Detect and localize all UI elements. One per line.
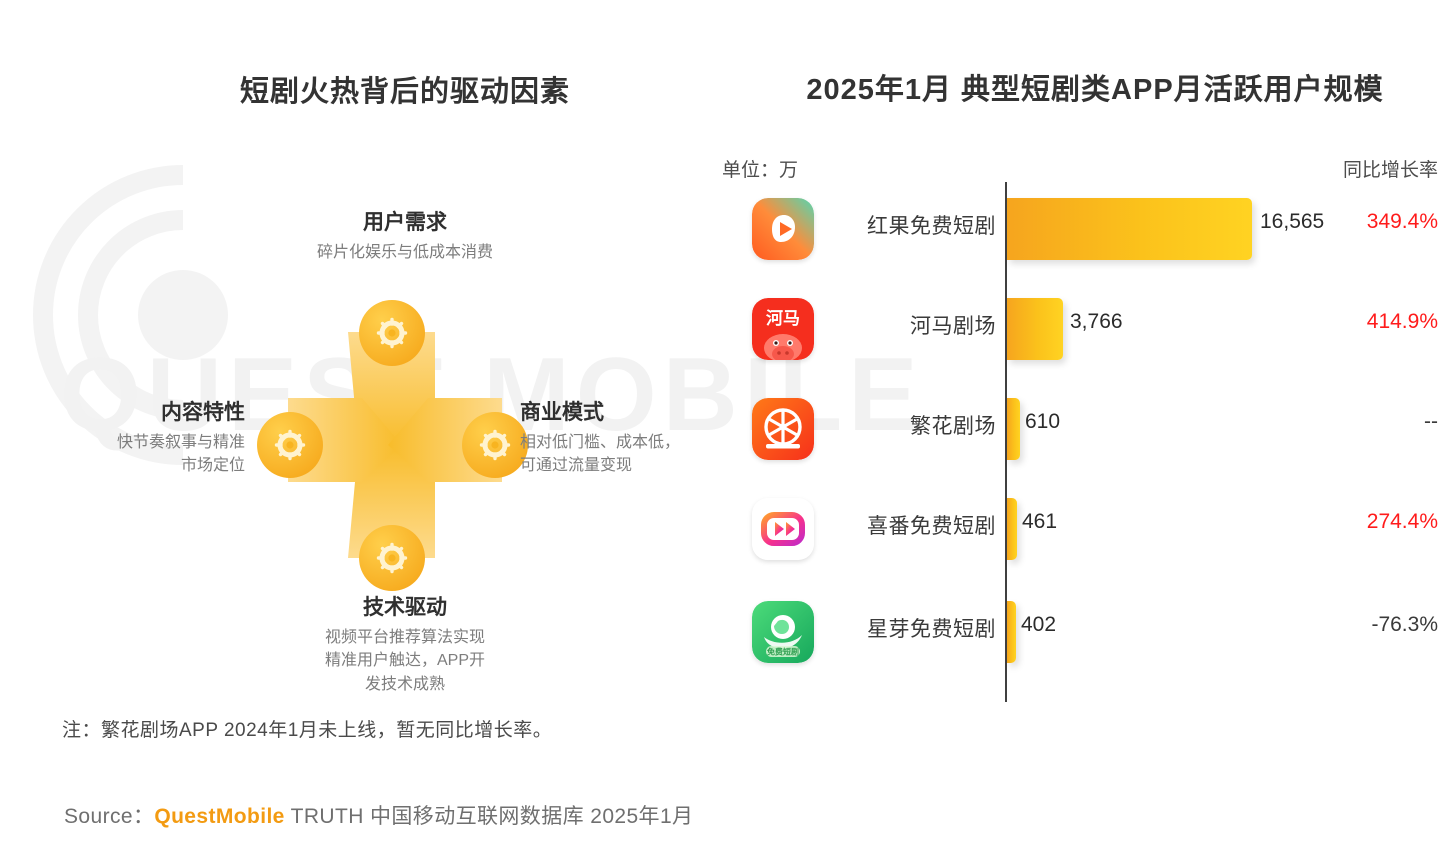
growth-value: 349.4% [1367, 210, 1438, 234]
factor-desc: 快节奏叙事与精准 市场定位 [20, 431, 245, 477]
driver-factors-diagram: 用户需求 碎片化娱乐与低成本消费 内容特性 快节奏叙事与精准 市场定位 商业模式… [20, 150, 740, 710]
xifan-app-icon [752, 498, 814, 560]
left-panel-title: 短剧火热背后的驱动因素 [190, 68, 620, 110]
bar-value-label: 610 [1025, 410, 1060, 434]
table-row[interactable]: 红果免费短剧 16,565 349.4% [700, 190, 1440, 290]
app-name: 喜番免费短剧 [828, 510, 996, 540]
source-line: Source：QuestMobile TRUTH 中国移动互联网数据库 2025… [64, 800, 693, 830]
growth-column-header: 同比增长率 [1343, 155, 1438, 182]
factor-title: 技术驱动 [235, 595, 575, 621]
factor-desc: 视频平台推荐算法实现 精准用户触达，APP开 发技术成熟 [235, 626, 575, 696]
hema-app-icon: 河马 [752, 298, 814, 360]
factor-node-tech-driven: 技术驱动 视频平台推荐算法实现 精准用户触达，APP开 发技术成熟 [235, 595, 575, 696]
fanhua-app-icon [752, 398, 814, 460]
growth-value: -76.3% [1371, 613, 1438, 637]
factor-desc: 碎片化娱乐与低成本消费 [235, 241, 575, 264]
table-row[interactable]: 喜番免费短剧 461 274.4% [700, 490, 1440, 590]
bar-value-label: 461 [1022, 510, 1057, 534]
bar [1007, 198, 1252, 260]
app-name: 繁花剧场 [828, 410, 996, 440]
source-prefix: Source： [64, 805, 154, 828]
bar [1007, 601, 1016, 663]
growth-value: 414.9% [1367, 310, 1438, 334]
xingya-app-icon: 免费短剧 [752, 601, 814, 663]
factor-node-content-traits: 内容特性 快节奏叙事与精准 市场定位 [20, 400, 245, 478]
app-name: 河马剧场 [828, 310, 996, 340]
svg-text:免费短剧: 免费短剧 [767, 647, 799, 657]
hongguo-app-icon [752, 198, 814, 260]
table-row[interactable]: 繁花剧场 610 -- [700, 390, 1440, 490]
app-name: 红果免费短剧 [828, 210, 996, 240]
chart-title: 2025年1月 典型短剧类APP月活跃用户规模 [775, 66, 1415, 108]
factor-title: 用户需求 [235, 210, 575, 236]
bar [1007, 398, 1020, 460]
svg-text:河马: 河马 [766, 309, 800, 329]
bar-value-label: 402 [1021, 613, 1056, 637]
bar-value-label: 3,766 [1070, 310, 1123, 334]
factor-node-user-demand: 用户需求 碎片化娱乐与低成本消费 [235, 210, 575, 264]
table-row[interactable]: 免费短剧 星芽免费短剧 402 -76.3% [700, 593, 1440, 693]
questmobile-brand: QuestMobile [154, 805, 284, 828]
page-root: QUEST MOBILE 短剧火热背后的驱动因素 [0, 0, 1440, 855]
source-rest: TRUTH 中国移动互联网数据库 2025年1月 [285, 805, 694, 828]
bar-value-label: 16,565 [1260, 210, 1324, 234]
growth-value: 274.4% [1367, 510, 1438, 534]
mau-bar-chart: 单位：万 同比增长率 红果免费短剧 16,565 349.4% [700, 140, 1440, 720]
factor-title: 内容特性 [20, 400, 245, 426]
table-row[interactable]: 河马 河马剧场 3,766 414.9% [700, 290, 1440, 390]
growth-value: -- [1424, 410, 1438, 434]
bar [1007, 498, 1017, 560]
unit-label: 单位：万 [722, 155, 798, 182]
app-name: 星芽免费短剧 [828, 613, 996, 643]
bar [1007, 298, 1063, 360]
